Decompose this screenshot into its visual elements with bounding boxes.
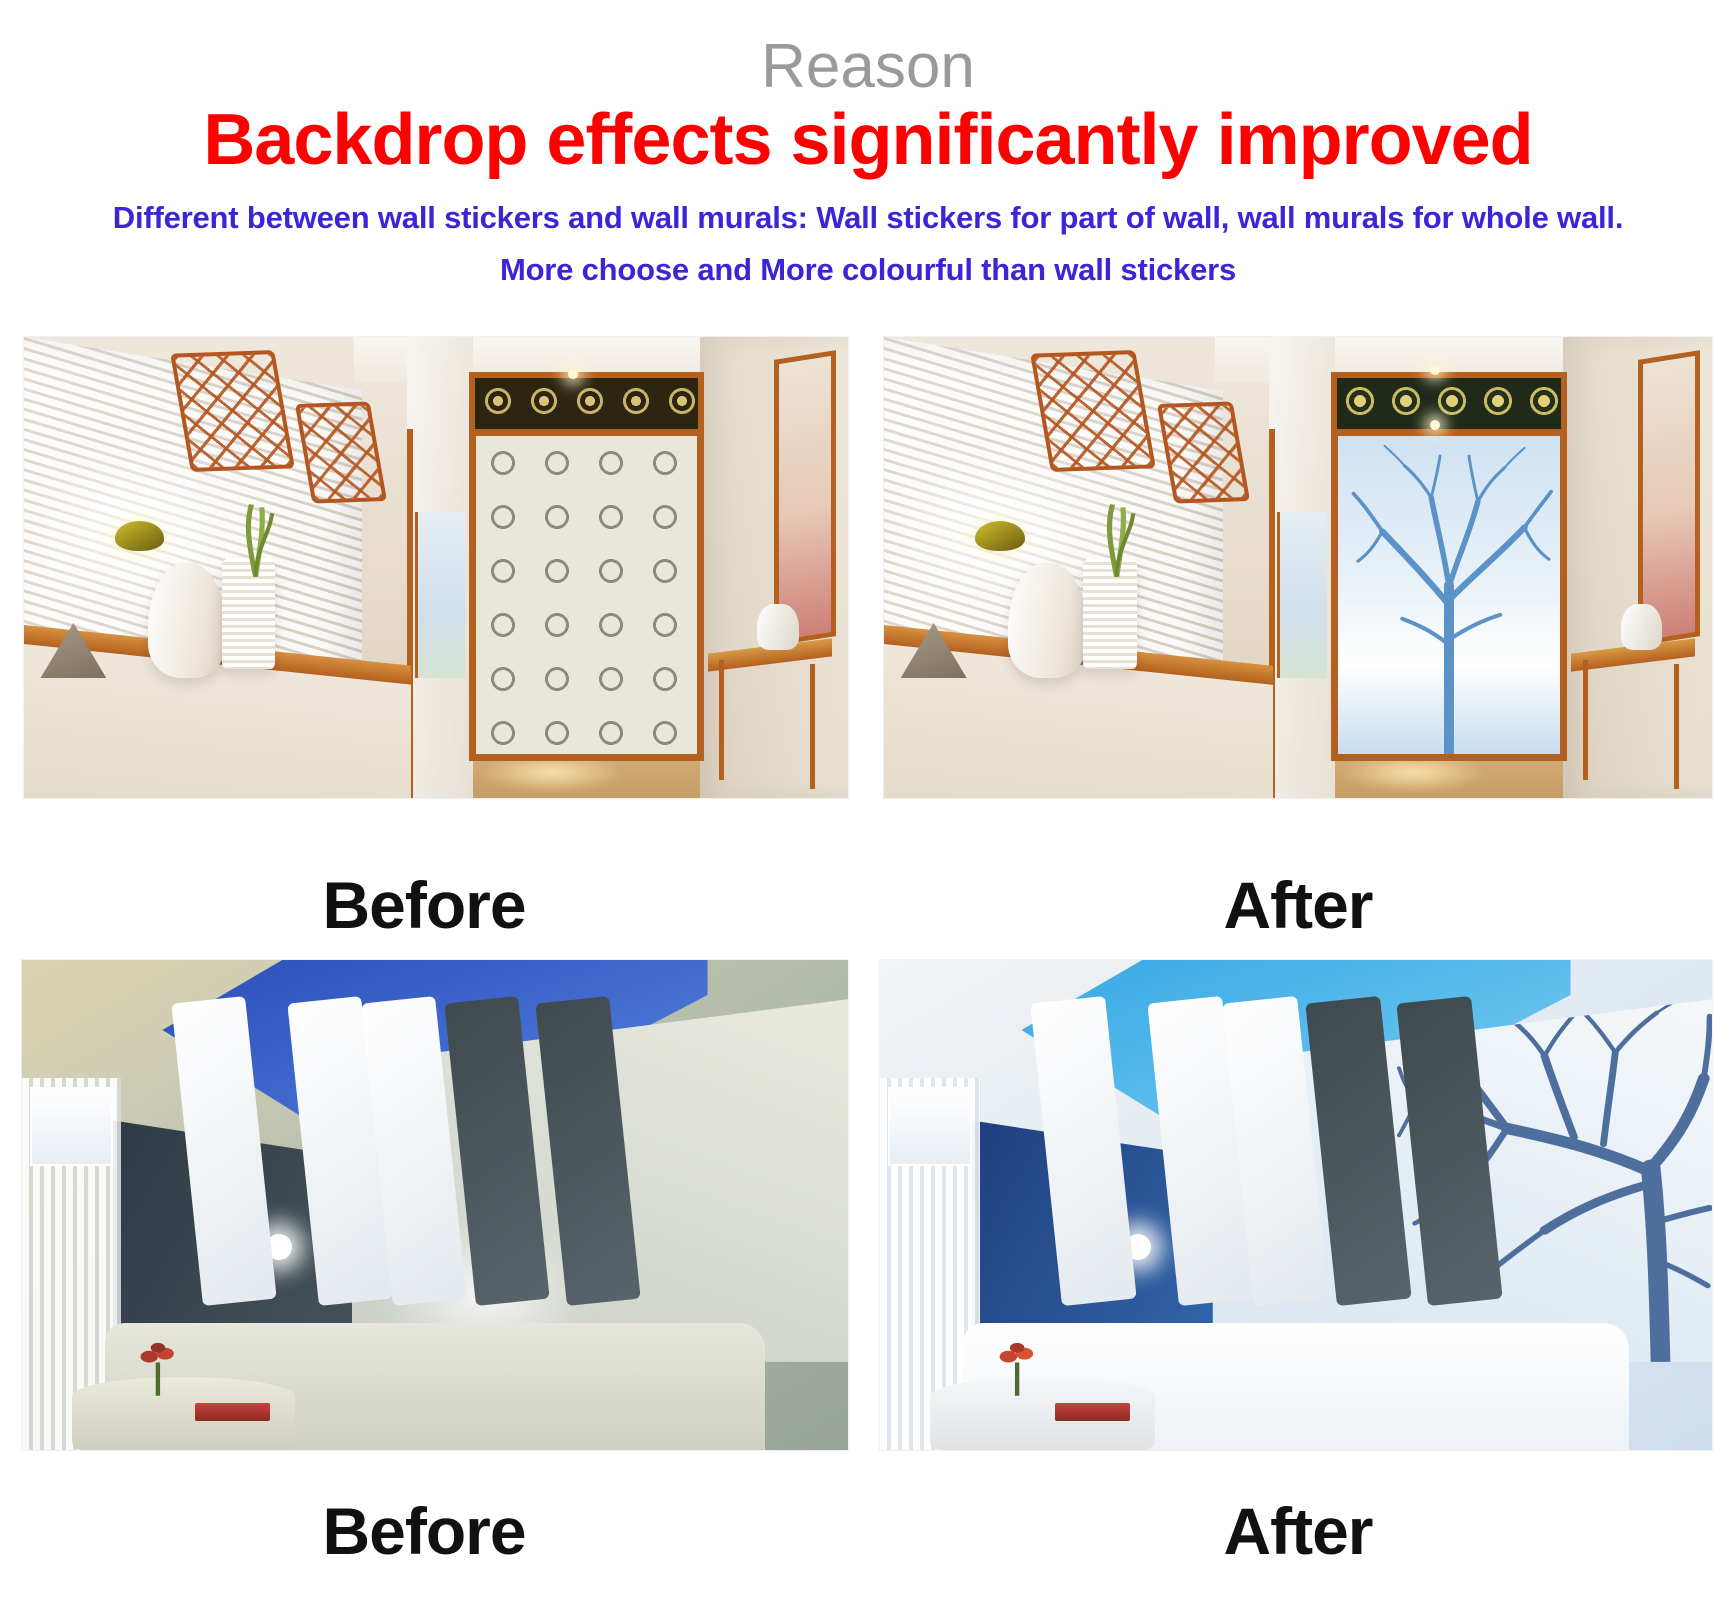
book-on-table — [195, 1403, 269, 1420]
plant-leaves-icon — [235, 503, 276, 577]
promo-banner: Reason Backdrop effects significantly im… — [0, 0, 1736, 1600]
comparison-image-hallway-before — [24, 337, 848, 798]
lattice-ornament — [170, 350, 295, 472]
comparison-image-hallway-after — [884, 337, 1712, 798]
window — [1277, 512, 1327, 678]
back-wall-patterned-wallpaper — [469, 429, 704, 761]
caption-hallway-after: After — [884, 872, 1712, 938]
livingroom-after-scene — [880, 960, 1712, 1450]
window — [888, 1087, 971, 1165]
plant-leaves-icon — [1096, 503, 1137, 577]
table-leg — [1583, 660, 1588, 780]
white-vase-large — [1008, 563, 1087, 678]
comparison-image-livingroom-before — [22, 960, 848, 1450]
table-leg — [1674, 664, 1679, 788]
comparison-image-livingroom-after — [880, 960, 1712, 1450]
table-leg — [810, 664, 815, 788]
framed-artwork — [1638, 351, 1700, 647]
small-decor-vase — [1621, 604, 1662, 650]
hallway-before-scene — [24, 337, 848, 798]
back-wall-tree-mural — [1331, 429, 1567, 761]
subtitle-line-2: More choose and More colourful than wall… — [0, 252, 1736, 288]
window — [30, 1087, 113, 1165]
flower-vase-icon — [129, 1337, 187, 1396]
page-title: Backdrop effects significantly improved — [0, 104, 1736, 177]
wall-lamp — [115, 521, 164, 551]
table-leg — [719, 660, 724, 780]
subtitle-line-1: Different between wall stickers and wall… — [0, 200, 1736, 236]
flower-vase-icon — [988, 1337, 1046, 1396]
lattice-ornament — [1030, 350, 1155, 472]
caption-hallway-before: Before — [0, 872, 848, 938]
caption-livingroom-before: Before — [0, 1498, 848, 1564]
wall-lamp — [975, 521, 1025, 551]
small-decor-vase — [757, 604, 798, 650]
book-on-table — [1055, 1403, 1130, 1420]
eyebrow-heading: Reason — [0, 36, 1736, 98]
livingroom-before-scene — [22, 960, 848, 1450]
hallway-after-scene — [884, 337, 1712, 798]
framed-artwork — [774, 351, 836, 647]
white-vase-large — [148, 563, 226, 678]
caption-livingroom-after: After — [884, 1498, 1712, 1564]
tree-mural-icon — [1338, 436, 1560, 754]
window — [415, 512, 464, 678]
